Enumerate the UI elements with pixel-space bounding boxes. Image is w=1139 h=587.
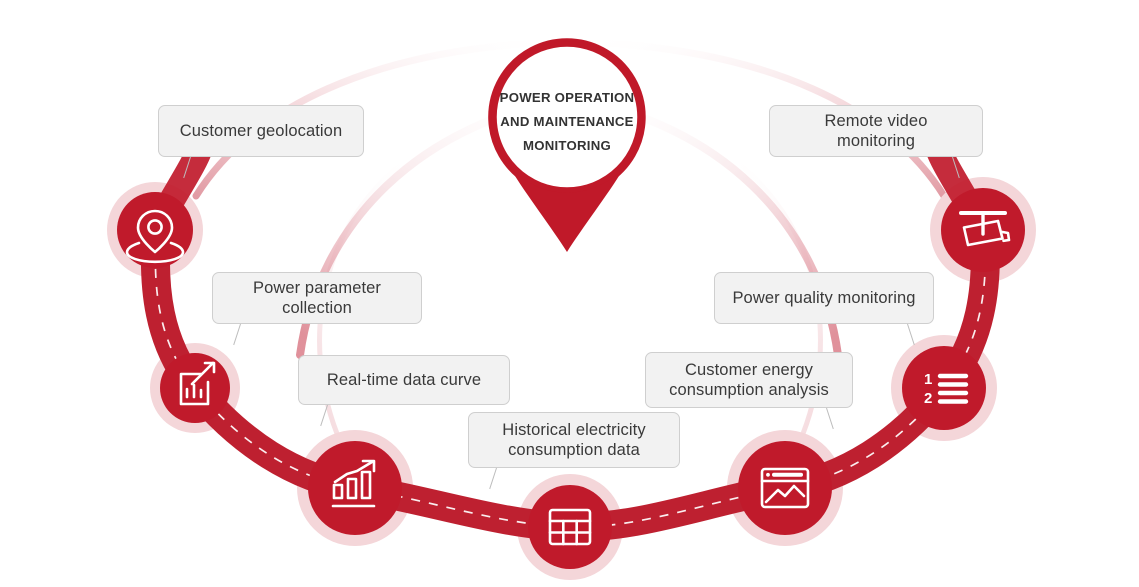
center-pin-title-line-1: POWER OPERATION: [482, 86, 652, 110]
node-customer-energy-analysis[interactable]: [738, 441, 832, 535]
label-power-quality-monitoring[interactable]: Power quality monitoring: [714, 272, 934, 324]
label-customer-energy-analysis[interactable]: Customer energy consumption analysis: [645, 352, 853, 408]
label-customer-energy-analysis-line-2: consumption analysis: [669, 380, 829, 400]
label-power-parameter-collection[interactable]: Power parameter collection: [212, 272, 422, 324]
node-power-quality-monitoring[interactable]: [902, 346, 986, 430]
center-pin-title-line-3: MONITORING: [482, 134, 652, 158]
label-power-parameter-collection-line-2: collection: [282, 298, 352, 318]
label-historical-electricity-data-line-1: Historical electricity: [502, 420, 645, 440]
svg-text:1: 1: [924, 371, 932, 388]
label-historical-electricity-data-line-2: consumption data: [508, 440, 640, 460]
label-power-parameter-collection-line-1: Power parameter: [253, 278, 381, 298]
center-pin-title-line-2: AND MAINTENANCE: [482, 110, 652, 134]
label-remote-video-monitoring[interactable]: Remote video monitoring: [769, 105, 983, 157]
infographic-canvas: 1 2 POWER OPERATION AND MAINTENANCE MONI…: [0, 0, 1139, 587]
label-historical-electricity-data[interactable]: Historical electricity consumption data: [468, 412, 680, 468]
center-pin-title: POWER OPERATION AND MAINTENANCE MONITORI…: [482, 86, 652, 158]
label-real-time-data-curve[interactable]: Real-time data curve: [298, 355, 510, 405]
label-customer-geolocation-text: Customer geolocation: [180, 121, 343, 141]
svg-text:2: 2: [924, 390, 932, 407]
node-historical-electricity-data[interactable]: [528, 485, 612, 569]
label-remote-video-monitoring-text: Remote video monitoring: [784, 111, 968, 151]
label-power-quality-monitoring-text: Power quality monitoring: [732, 288, 915, 308]
label-customer-energy-analysis-line-1: Customer energy: [685, 360, 813, 380]
label-customer-geolocation[interactable]: Customer geolocation: [158, 105, 364, 157]
label-real-time-data-curve-text: Real-time data curve: [327, 370, 481, 390]
